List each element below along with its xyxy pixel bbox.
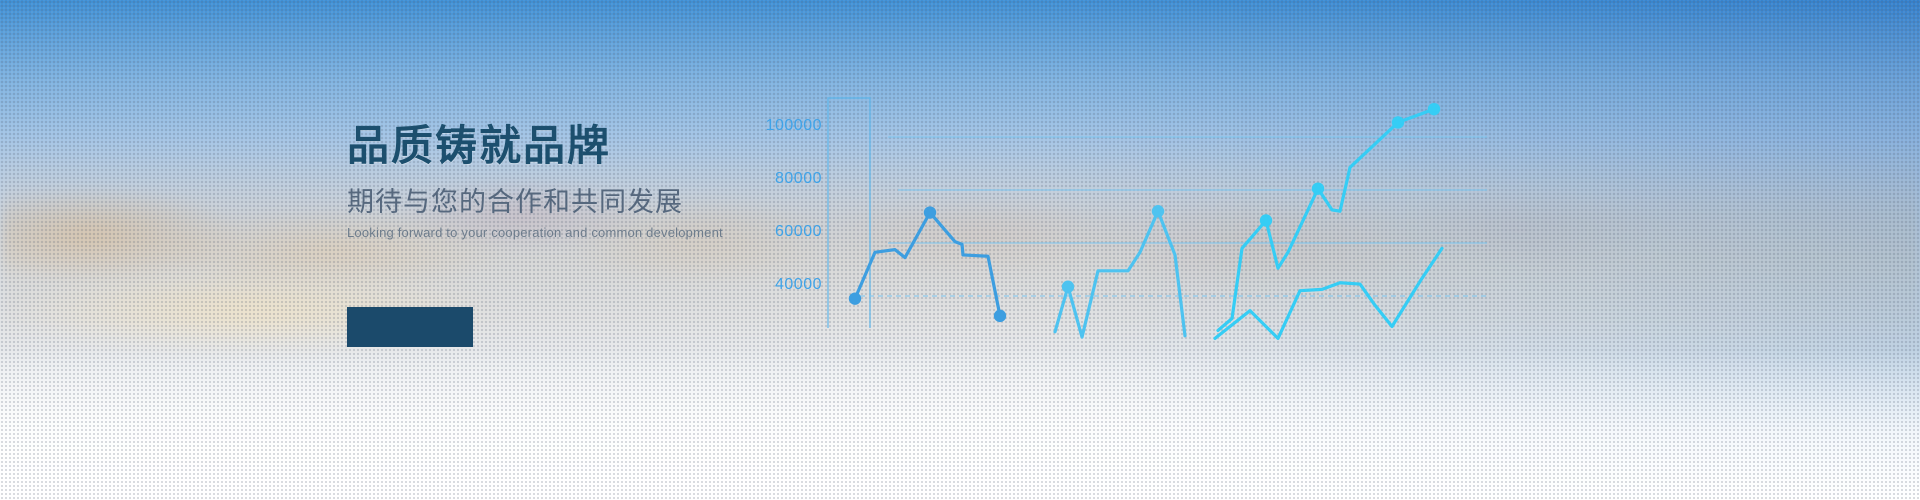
- page-title: 品质铸就品牌: [347, 122, 767, 170]
- page-subtitle: 期待与您的合作和共同发展: [347, 186, 767, 218]
- hero-banner: 400006000080000100000 品质铸就品牌 期待与您的合作和共同发…: [0, 0, 1920, 500]
- hero-copy: 品质铸就品牌 期待与您的合作和共同发展 Looking forward to y…: [347, 122, 767, 242]
- halftone-dot-highlight: [0, 0, 1920, 500]
- cta-button[interactable]: [347, 307, 473, 347]
- page-subtitle-en: Looking forward to your cooperation and …: [347, 225, 767, 242]
